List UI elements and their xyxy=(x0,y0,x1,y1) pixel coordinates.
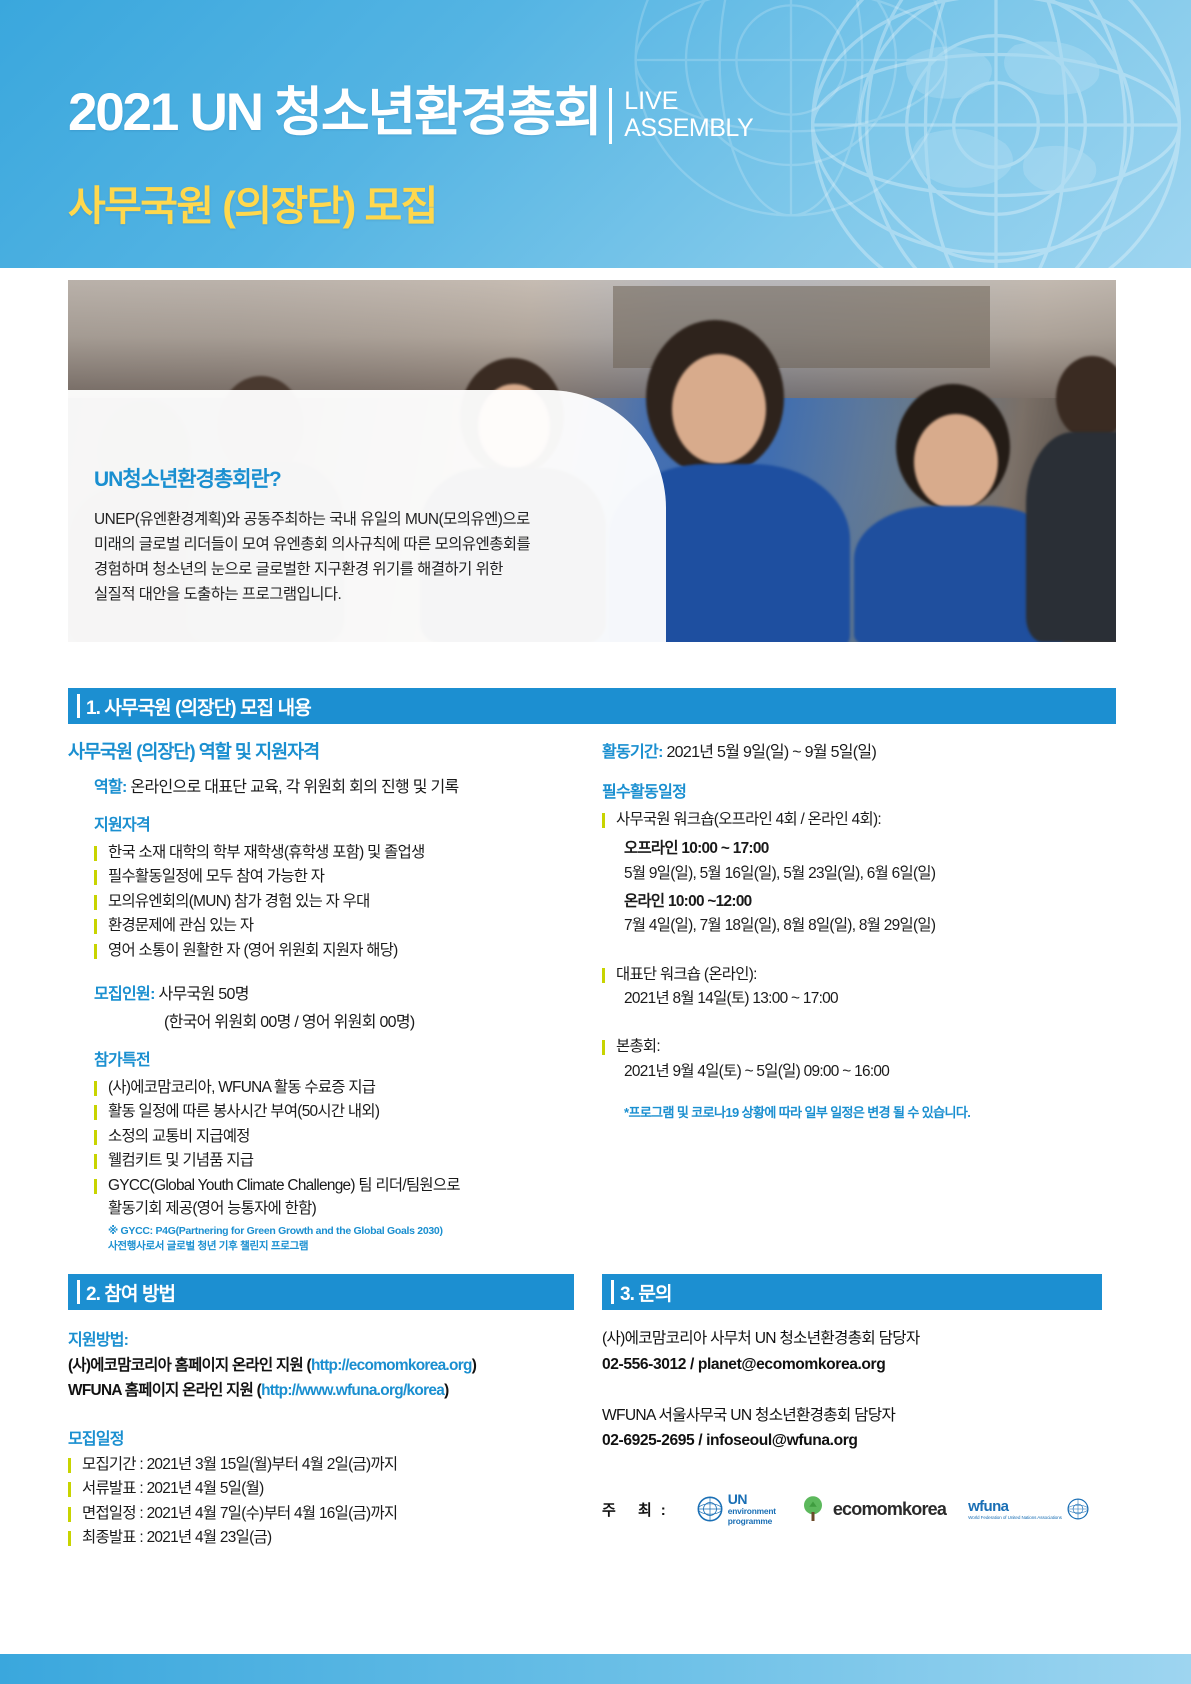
intro-line: 미래의 글로벌 리더들이 모여 유엔총회 의사규칙에 따른 모의유엔총회를 xyxy=(94,533,646,558)
footer-bar xyxy=(0,1654,1191,1684)
activity-period-label: 활동기간: xyxy=(602,744,663,761)
contact-org: (사)에코맘코리아 사무처 UN 청소년환경총회 담당자 xyxy=(602,1326,1102,1351)
online-label: 온라인 10:00 ~12:00 xyxy=(624,893,752,910)
required-schedule-heading: 필수활동일정 xyxy=(602,778,1102,802)
role-row: 역할: 온라인으로 대표단 교육, 각 위원회 회의 진행 및 기록 xyxy=(94,773,574,797)
title-divider xyxy=(609,88,612,144)
wfuna-logo: wfuna World Federation of United Nations… xyxy=(968,1498,1089,1520)
contact-ecomomkorea: (사)에코맘코리아 사무처 UN 청소년환경총회 담당자 02-556-3012… xyxy=(602,1326,1102,1377)
delegate-workshop-list: 대표단 워크숍 (온라인): xyxy=(602,963,1102,986)
section-1-left-column: 사무국원 (의장단) 역할 및 지원자격 역할: 온라인으로 대표단 교육, 각… xyxy=(68,738,588,1254)
apply-ecomom-tail: ) xyxy=(472,1357,476,1374)
bottom-sections: 2. 참여 방법 지원방법: (사)에코맘코리아 홈페이지 온라인 지원 (ht… xyxy=(68,1274,1116,1550)
list-item: 영어 소통이 원활한 자 (영어 위원회 지원자 해당) xyxy=(94,939,574,962)
list-item-gycc: GYCC(Global Youth Climate Challenge) 팀 리… xyxy=(94,1174,574,1221)
headcount-label: 모집인원: xyxy=(94,986,155,1003)
apply-ecomom-text: (사)에코맘코리아 홈페이지 온라인 지원 ( xyxy=(68,1357,311,1374)
poster-title: 2021 UN 청소년환경총회 xyxy=(68,86,600,139)
hero-photo: UN청소년환경총회란? UNEP(유엔환경계획)와 공동주최하는 국내 유일의 … xyxy=(68,280,1116,642)
qualifications-list: 한국 소재 대학의 학부 재학생(휴학생 포함) 및 졸업생 필수활동일정에 모… xyxy=(94,841,574,962)
schedule-disclaimer: *프로그램 및 코로나19 상황에 따라 일부 일정은 변경 될 수 있습니다. xyxy=(624,1102,1102,1121)
list-item: 한국 소재 대학의 학부 재학생(휴학생 포함) 및 졸업생 xyxy=(94,841,574,864)
headcount-value: 사무국원 50명 xyxy=(158,986,248,1003)
contact-detail: 02-6925-2695 / infoseoul@wfuna.org xyxy=(602,1428,1102,1453)
role-value: 온라인으로 대표단 교육, 각 위원회 회의 진행 및 기록 xyxy=(130,779,458,796)
contact-detail: 02-556-3012 / planet@ecomomkorea.org xyxy=(602,1352,1102,1377)
offline-label: 오프라인 10:00 ~ 17:00 xyxy=(624,840,769,857)
delegate-workshop-date: 2021년 8월 14일(토) 13:00 ~ 17:00 xyxy=(624,987,1102,1011)
recruit-schedule-heading: 모집일정 xyxy=(68,1425,574,1449)
online-dates: 7월 4일(일), 7월 18일(일), 8월 8일(일), 8월 29일(일) xyxy=(624,914,1102,938)
apply-wfuna-tail: ) xyxy=(444,1382,448,1399)
un-emblem-icon xyxy=(1067,1498,1089,1520)
activity-period-row: 활동기간: 2021년 5월 9일(일) ~ 9월 5일(일) xyxy=(602,738,1102,762)
photo-person-body xyxy=(1026,432,1116,642)
list-item: 활동 일정에 따른 봉사시간 부여(50시간 내외) xyxy=(94,1100,574,1123)
offline-block: 오프라인 10:00 ~ 17:00 5월 9일(일), 5월 16일(일), … xyxy=(624,837,1102,886)
headcount-row: 모집인원: 사무국원 50명 xyxy=(94,980,574,1004)
ecomomkorea-logo: ecomomkorea xyxy=(798,1494,946,1524)
wfuna-logo-subtitle: World Federation of United Nations Assoc… xyxy=(968,1515,1062,1520)
list-item: 모의유엔회의(MUN) 참가 경험 있는 자 우대 xyxy=(94,890,574,913)
tree-icon xyxy=(798,1494,828,1524)
un-logo-line1: UN xyxy=(728,1491,776,1507)
list-item: 면접일정 : 2021년 4월 7일(수)부터 4월 16일(금)까지 xyxy=(68,1502,574,1525)
ecomomkorea-link[interactable]: http://ecomomkorea.org xyxy=(311,1357,472,1374)
host-label: 주 최: xyxy=(602,1499,675,1520)
gycc-footnote: ※ GYCC: P4G(Partnering for Green Growth … xyxy=(108,1224,574,1254)
wfuna-logo-text-block: wfuna World Federation of United Nations… xyxy=(968,1498,1062,1520)
section-3: 3. 문의 (사)에코맘코리아 사무처 UN 청소년환경총회 담당자 02-55… xyxy=(588,1274,1102,1550)
poster-title-english: LIVE ASSEMBLY xyxy=(624,86,753,141)
apply-line-wfuna: WFUNA 홈페이지 온라인 지원 (http://www.wfuna.org/… xyxy=(68,1379,574,1403)
main-assembly-list: 본총회: xyxy=(602,1035,1102,1058)
intro-line: 실질적 대안을 도출하는 프로그램입니다. xyxy=(94,583,646,608)
intro-body: UNEP(유엔환경계획)와 공동주최하는 국내 유일의 MUN(모의유엔)으로 … xyxy=(94,508,646,608)
workshop-item: 사무국원 워크숍(오프라인 4회 / 온라인 4회): xyxy=(602,808,1102,831)
host-logo-row: 주 최: UN environment programme xyxy=(602,1491,1102,1527)
gycc-footnote-line1: ※ GYCC: P4G(Partnering for Green Growth … xyxy=(108,1224,574,1239)
list-item: 소정의 교통비 지급예정 xyxy=(94,1125,574,1148)
gycc-line2: 활동기회 제공(영어 능통자에 한함) xyxy=(108,1200,316,1217)
contact-wfuna: WFUNA 서울사무국 UN 청소년환경총회 담당자 02-6925-2695 … xyxy=(602,1403,1102,1454)
photo-boy-face xyxy=(914,414,998,510)
header-title-row: 2021 UN 청소년환경총회 LIVE ASSEMBLY xyxy=(68,86,753,144)
qualifications-heading: 지원자격 xyxy=(94,811,574,835)
list-item: 웰컴키트 및 기념품 지급 xyxy=(94,1149,574,1172)
benefits-list: (사)에코맘코리아, WFUNA 활동 수료증 지급 활동 일정에 따른 봉사시… xyxy=(94,1076,574,1220)
list-item: 필수활동일정에 모두 참여 가능한 자 xyxy=(94,865,574,888)
photo-mentor-face xyxy=(672,354,766,464)
intro-line: 경험하며 청소년의 눈으로 글로벌한 지구환경 위기를 해결하기 위한 xyxy=(94,558,646,583)
gycc-line1: GYCC(Global Youth Climate Challenge) 팀 리… xyxy=(108,1177,460,1194)
workshop-list: 사무국원 워크숍(오프라인 4회 / 온라인 4회): xyxy=(602,808,1102,831)
ecomomkorea-logo-text: ecomomkorea xyxy=(833,1499,946,1520)
apply-method-heading: 지원방법: xyxy=(68,1326,574,1350)
list-item: 환경문제에 관심 있는 자 xyxy=(94,914,574,937)
benefits-heading: 참가특전 xyxy=(94,1046,574,1070)
headcount-detail: (한국어 위원회 00명 / 영어 위원회 00명) xyxy=(164,1008,574,1032)
title-sub-line1: LIVE xyxy=(624,88,753,115)
role-group-title: 사무국원 (의장단) 역할 및 지원자격 xyxy=(68,738,574,764)
poster-header: 2021 UN 청소년환경총회 LIVE ASSEMBLY 사무국원 (의장단)… xyxy=(0,0,1191,268)
title-sub-line2: ASSEMBLY xyxy=(624,115,753,142)
intro-heading: UN청소년환경총회란? xyxy=(94,463,646,493)
delegate-workshop-item: 대표단 워크숍 (온라인): xyxy=(602,963,1102,986)
intro-caption: UN청소년환경총회란? UNEP(유엔환경계획)와 공동주최하는 국내 유일의 … xyxy=(94,463,646,608)
poster-root: 2021 UN 청소년환경총회 LIVE ASSEMBLY 사무국원 (의장단)… xyxy=(0,0,1191,1684)
recruit-schedule-list: 모집기간 : 2021년 3월 15일(월)부터 4월 2일(금)까지 서류발표… xyxy=(68,1453,574,1550)
list-item: 최종발표 : 2021년 4월 23일(금) xyxy=(68,1526,574,1549)
un-environment-programme-logo: UN environment programme xyxy=(697,1491,776,1527)
wfuna-link[interactable]: http://www.wfuna.org/korea xyxy=(261,1382,444,1399)
un-logo-text-block: UN environment programme xyxy=(728,1491,776,1527)
section-3-header: 3. 문의 xyxy=(602,1274,1102,1310)
list-item: 서류발표 : 2021년 4월 5일(월) xyxy=(68,1477,574,1500)
un-emblem-icon xyxy=(697,1496,723,1522)
online-block: 온라인 10:00 ~12:00 7월 4일(일), 7월 18일(일), 8월… xyxy=(624,890,1102,939)
wfuna-logo-text: wfuna xyxy=(968,1498,1062,1515)
section-2-header: 2. 참여 방법 xyxy=(68,1274,574,1310)
apply-wfuna-text: WFUNA 홈페이지 온라인 지원 ( xyxy=(68,1382,261,1399)
poster-subtitle: 사무국원 (의장단) 모집 xyxy=(68,186,437,227)
main-assembly-item: 본총회: xyxy=(602,1035,1102,1058)
un-logo-line3: programme xyxy=(728,1517,776,1527)
section-1-right-column: 활동기간: 2021년 5월 9일(일) ~ 9월 5일(일) 필수활동일정 사… xyxy=(588,738,1102,1254)
intro-line: UNEP(유엔환경계획)와 공동주최하는 국내 유일의 MUN(모의유엔)으로 xyxy=(94,508,646,533)
apply-line-ecomom: (사)에코맘코리아 홈페이지 온라인 지원 (http://ecomomkore… xyxy=(68,1354,574,1378)
contact-org: WFUNA 서울사무국 UN 청소년환경총회 담당자 xyxy=(602,1403,1102,1428)
section-1-header: 1. 사무국원 (의장단) 모집 내용 xyxy=(68,688,1116,724)
gycc-footnote-line2: 사전행사로서 글로벌 청년 기후 챌린지 프로그램 xyxy=(108,1239,574,1254)
main-assembly-date: 2021년 9월 4일(토) ~ 5일(일) 09:00 ~ 16:00 xyxy=(624,1060,1102,1084)
section-1: 1. 사무국원 (의장단) 모집 내용 사무국원 (의장단) 역할 및 지원자격… xyxy=(68,688,1116,1254)
role-label: 역할: xyxy=(94,779,127,796)
section-2: 2. 참여 방법 지원방법: (사)에코맘코리아 홈페이지 온라인 지원 (ht… xyxy=(68,1274,588,1550)
offline-dates: 5월 9일(일), 5월 16일(일), 5월 23일(일), 6월 6일(일) xyxy=(624,862,1102,886)
list-item: 모집기간 : 2021년 3월 15일(월)부터 4월 2일(금)까지 xyxy=(68,1453,574,1476)
list-item: (사)에코맘코리아, WFUNA 활동 수료증 지급 xyxy=(94,1076,574,1099)
activity-period-value: 2021년 5월 9일(일) ~ 9월 5일(일) xyxy=(666,744,876,761)
